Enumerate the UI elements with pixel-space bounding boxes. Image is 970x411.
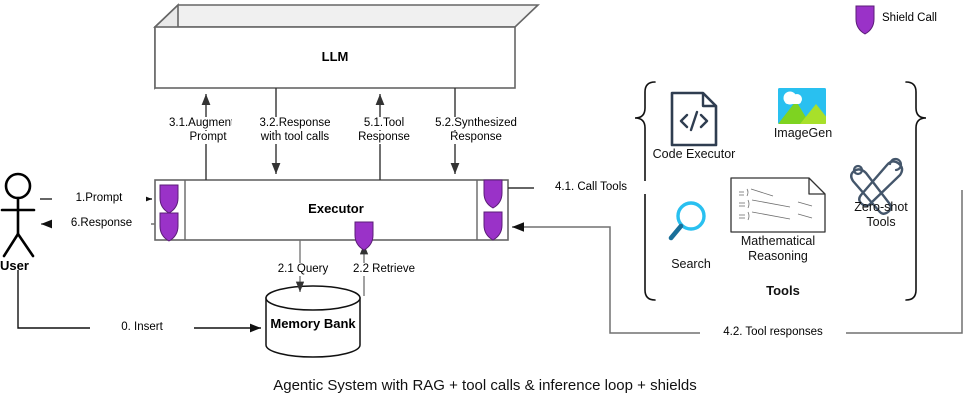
edge-label-prompt: 1.Prompt [52,192,146,205]
tool-label-zeroshot-line2: Tools [840,215,922,230]
tool-label-math-line1: Mathematical [722,234,834,249]
edge-label-tool-responses: 4.2. Tool responses [700,326,846,339]
memory-bank-label: Memory Bank [263,317,363,330]
edge-label-tool-response-line2: Response [337,131,431,144]
edge-label-retrieve: 2.2 Retrieve [334,263,434,276]
math-document-icon [731,178,825,232]
diagram-vector-layer [0,0,970,411]
edge-label-insert: 0. Insert [90,321,194,334]
legend-shield-label: Shield Call [882,12,970,25]
diagram-caption: Agentic System with RAG + tool calls & i… [0,377,970,394]
edge-insert [18,270,261,328]
shield-icon [856,6,874,34]
tool-label-math-line2: Reasoning [722,249,834,264]
tool-label-imagegen: ImageGen [764,126,842,141]
edge-label-synth-line1: 5.2.Synthesized [420,117,532,130]
image-picture-icon [778,88,832,124]
tool-label-search: Search [660,257,722,272]
magnifier-icon [671,203,704,238]
llm-node [155,5,538,88]
tool-label-code-executor: Code Executor [646,147,742,162]
shield-icon [355,222,373,250]
tools-group-label: Tools [740,283,826,298]
edge-label-synth-line2: Response [420,131,532,144]
code-document-icon [672,93,716,145]
edge-label-call-tools: 4.1. Call Tools [534,181,648,194]
user-label: User [0,259,44,272]
edge-label-response: 6.Response [52,217,151,230]
executor-label: Executor [291,202,381,215]
diagram-canvas: LLM Executor Memory Bank User 1.Prompt 6… [0,0,970,411]
user-node [2,174,34,256]
tool-label-zeroshot-line1: Zero-shot [840,200,922,215]
edge-label-tool-response-line1: 5.1.Tool [337,117,431,130]
llm-label: LLM [295,50,375,63]
